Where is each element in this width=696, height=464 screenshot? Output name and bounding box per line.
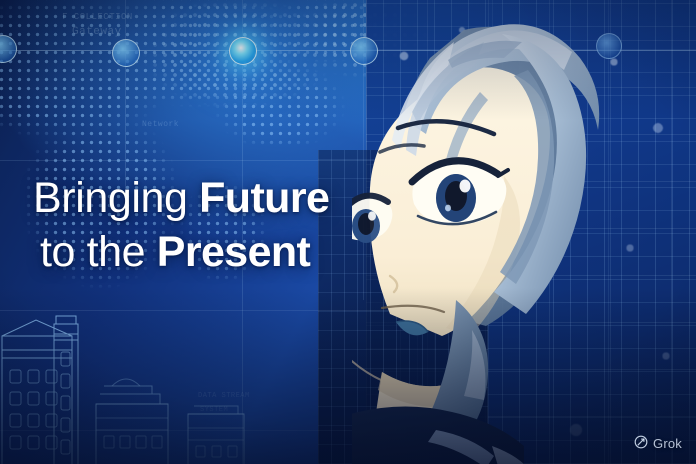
headline-line-2: to the Present [40, 230, 329, 276]
grok-watermark-label: Grok [653, 436, 682, 451]
page-title: Bringing Future to the Present [33, 176, 329, 275]
headline-line-2-light: to the [40, 228, 157, 276]
headline-line-1: Bringing Future [33, 176, 329, 222]
grok-watermark: Grok [634, 435, 682, 452]
hero-banner: Γ COLLECTION Gateway Network DATA STREAM… [0, 0, 696, 464]
headline-line-1-light: Bringing [33, 174, 199, 222]
headline-line-1-bold: Future [199, 174, 329, 222]
headline-line-2-bold: Present [157, 228, 311, 276]
grok-logo-icon [634, 435, 648, 452]
